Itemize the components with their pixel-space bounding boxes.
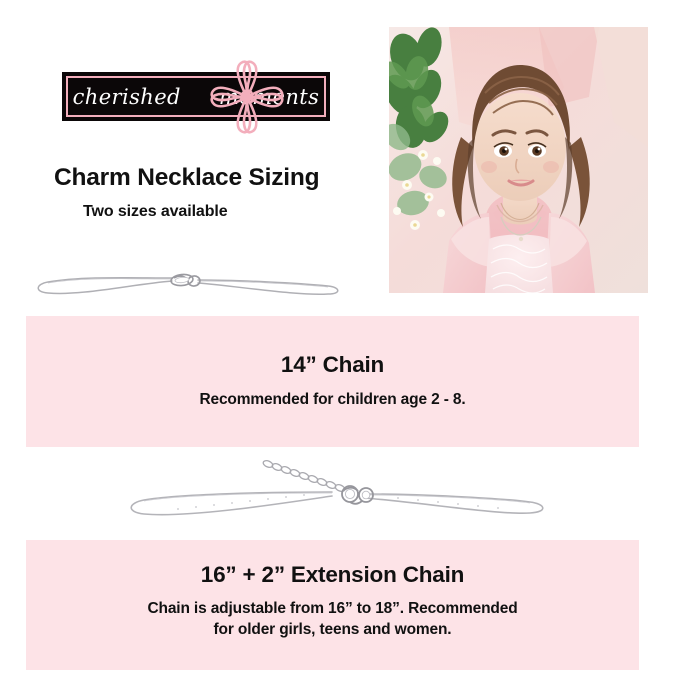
band-description-16-inch: Chain is adjustable from 16” to 18”. Rec… [26,588,639,641]
model-photo [389,27,648,293]
page-subtitle: Two sizes available [83,203,228,221]
size-band-14-inch: 14” Chain Recommended for children age 2… [26,316,639,447]
16-inch-chain-illustration [118,452,558,526]
band-description-14-inch: Recommended for children age 2 - 8. [26,378,639,411]
band-description-16-inch-line1: Chain is adjustable from 16” to 18”. Rec… [147,600,517,617]
14-inch-chain-illustration [22,248,352,310]
size-band-16-inch: 16” + 2” Extension Chain Chain is adjust… [26,540,639,670]
brand-logo: cherished moments [62,72,330,121]
page-title: Charm Necklace Sizing [54,164,319,192]
band-description-16-inch-line2: for older girls, teens and women. [214,621,452,638]
band-title-14-inch: 14” Chain [26,316,639,378]
logo-plate [62,72,330,121]
band-title-16-inch: 16” + 2” Extension Chain [26,540,639,588]
logo-plate-border [66,76,326,117]
